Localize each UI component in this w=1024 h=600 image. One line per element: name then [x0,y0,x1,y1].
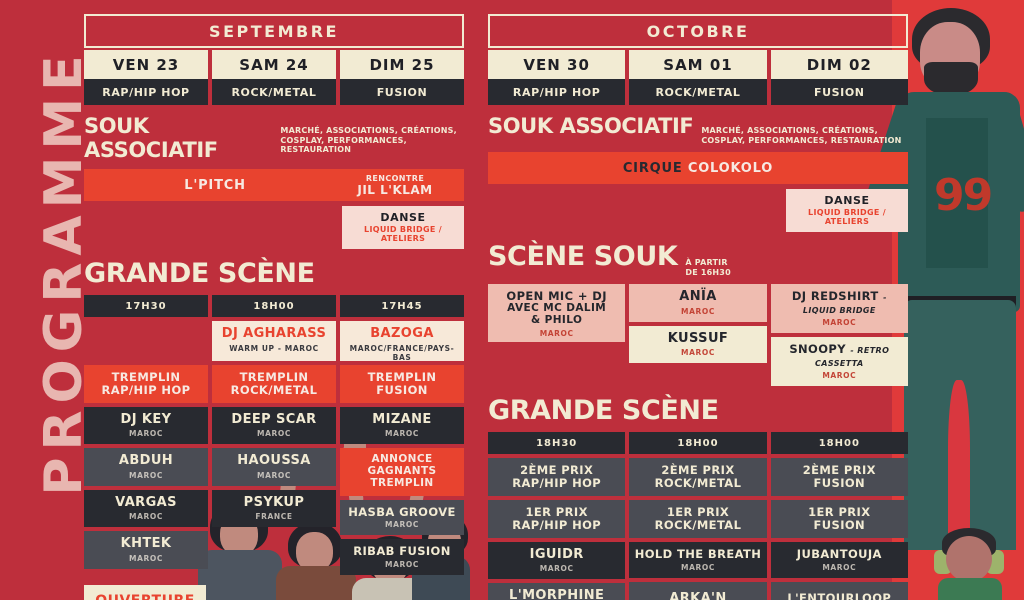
lineup-slot-prize[interactable]: 2ÈME PRIX ROCK/METAL [629,458,766,496]
slot-name: L'ENTOURLOOP [774,592,905,600]
danse-subtitle: LIQUID BRIDGE / ATELIERS [346,225,460,243]
day-genre: RAP/HIP HOP [488,79,625,105]
lineup-slot-artist[interactable]: HASBA GROOVE MAROC [340,500,464,536]
souk-slot-artist[interactable]: KUSSUF MAROC [629,326,766,364]
lineup-slot-tremplin[interactable]: TREMPLIN RAP/HIP HOP [84,365,208,403]
day-genre: RAP/HIP HOP [84,79,208,105]
slot-country: MAROC [87,512,205,521]
slot-name2: FUSION [774,477,905,490]
souk-subtitle-line2: COSPLAY, PERFORMANCES, RESTAURATION [280,136,464,155]
souk-slot-artist[interactable]: ANÏA MAROC [629,284,766,322]
slot-name: MIZANE [343,413,461,428]
lineup-slot-tremplin[interactable]: TREMPLIN ROCK/METAL [212,365,336,403]
souk-lane-3: DJ REDSHIRT - LIQUID BRIDGE MAROC SNOOPY… [771,284,908,386]
lineup-slot-prize[interactable]: 2ÈME PRIX FUSION [771,458,908,496]
lineup-slot-artist[interactable]: ARKA'N ASRAFOKOR TOGO [629,582,766,600]
day-name: SAM 24 [212,50,336,79]
slot-country: MAROC [87,554,205,563]
souk-subtitle-line1: MARCHÉ, ASSOCIATIONS, CRÉATIONS, [280,126,464,136]
section-heading-grande-scene-octobre: GRANDE SCÈNE [488,395,908,426]
lineup-slot-artist[interactable]: MIZANE MAROC [340,407,464,445]
danse-box[interactable]: DANSE LIQUID BRIDGE / ATELIERS [786,189,908,232]
danse-row-septembre: DANSE LIQUID BRIDGE / ATELIERS [84,206,464,249]
bar-side-small: RENCONTRE [336,174,454,183]
slot-country: MAROC [491,329,622,338]
lineup-lane-fusion: BAZOGA MAROC/FRANCE/PAYS-BAS TREMPLIN FU… [340,321,464,600]
souk-stage-title: SCÈNE SOUK [488,241,677,272]
slot-country: MAROC [632,348,763,357]
day-header-row-septembre: VEN 23 RAP/HIP HOP SAM 24 ROCK/METAL DIM… [84,50,464,105]
stage-title: GRANDE SCÈNE [84,258,315,289]
slot-name: RIBAB FUSION [343,545,461,558]
slot-country: MAROC [87,429,205,438]
slot-country: MAROC [343,429,461,438]
slot-name2: ROCK/METAL [632,519,763,532]
lineup-slot-artist[interactable]: JUBANTOUJA MAROC [771,542,908,578]
month-banner-septembre: SEPTEMBRE [84,14,464,48]
slot-country: MAROC [343,560,461,569]
lineup-slot-headliner[interactable]: BAZOGA MAROC/FRANCE/PAYS-BAS [340,321,464,361]
lineup-slot-artist[interactable]: ABDUH MAROC [84,448,208,486]
bar-side-name: JIL L'KLAM [336,183,454,197]
slot-name: ABDUH [87,454,205,469]
slot-country: WARM UP - MAROC [215,344,333,353]
time-header-row-octobre: 18H30 18H00 18H00 [488,432,908,454]
time-slot: 17H30 [84,295,208,317]
slot-name: 1ER PRIX [632,506,763,519]
danse-title: DANSE [346,211,460,224]
slot-name: ARKA'N [632,592,763,600]
souk-lane-1: OPEN MIC + DJ AVEC MC DALIM & PHILO MARO… [488,284,625,386]
danse-row-octobre: DANSE LIQUID BRIDGE / ATELIERS [488,189,908,232]
danse-subtitle: LIQUID BRIDGE / ATELIERS [790,208,904,226]
lineup-slot-artist[interactable]: DEEP SCAR MAROC [212,407,336,445]
souk-subtitle: MARCHÉ, ASSOCIATIONS, CRÉATIONS, COSPLAY… [701,126,901,145]
slot-name: IGUIDR [491,548,622,563]
slot-name2: RAP/HIP HOP [491,519,622,532]
lineup-slot-artist[interactable]: IGUIDR MAROC [488,542,625,580]
slot-country: MAROC [632,563,763,572]
slot-name: BAZOGA [343,327,461,342]
slot-country: MAROC [215,471,333,480]
day-genre: ROCK/METAL [629,79,766,105]
day-genre: FUSION [340,79,464,105]
slot-line: SNOOPY - RETRO CASSETTA [774,343,905,369]
souk-stage-note: À PARTIR DE 16H30 [685,258,730,277]
lineup-lane-rock-metal: DJ AGHARASS WARM UP - MAROC TREMPLIN ROC… [212,321,336,600]
weekend-column-octobre: OCTOBRE VEN 30 RAP/HIP HOP SAM 01 ROCK/M… [488,14,908,590]
lineup-grid-septembre: TREMPLIN RAP/HIP HOP DJ KEY MAROC ABDUH … [84,321,464,600]
lineup-slot-prize[interactable]: 1ER PRIX RAP/HIP HOP [488,500,625,538]
slot-country: MAROC [343,520,461,529]
time-slot: 18H30 [488,432,625,454]
slot-name: HASBA GROOVE [343,506,461,519]
ouverture-line1: OUVERTURE [90,593,200,600]
lineup-slot-artist[interactable]: DJ KEY MAROC [84,407,208,445]
ouverture-des-portes-box: OUVERTURE DES PORTES À 16H00 [84,585,206,600]
section-heading-scene-souk: SCÈNE SOUK À PARTIR DE 16H30 [488,241,908,277]
slot-name: JUBANTOUJA [774,548,905,561]
lineup-slot-artist[interactable]: PSYKUP FRANCE [212,490,336,528]
day-column-sam01[interactable]: SAM 01 ROCK/METAL [629,50,766,105]
lineup-slot-artist[interactable]: L'ENTOURLOOP FRANCE [771,582,908,600]
lineup-slot-artist[interactable]: L'MORPHINE MAROC [488,583,625,600]
souk-title: SOUK ASSOCIATIF [84,114,272,162]
day-column-ven23[interactable]: VEN 23 RAP/HIP HOP [84,50,208,105]
section-heading-souk-associatif-octobre: SOUK ASSOCIATIF MARCHÉ, ASSOCIATIONS, CR… [488,114,908,145]
lineup-lane-rap-hip-hop: TREMPLIN RAP/HIP HOP DJ KEY MAROC ABDUH … [84,321,208,600]
slot-country: MAROC/FRANCE/PAYS-BAS [343,344,461,362]
slot-country: MAROC [774,318,905,327]
lineup-lane-rock-metal-oct: 2ÈME PRIX ROCK/METAL 1ER PRIX ROCK/METAL… [629,458,766,600]
lineup-lane-rap-hip-hop-oct: 2ÈME PRIX RAP/HIP HOP 1ER PRIX RAP/HIP H… [488,458,625,600]
slot-country: MAROC [491,564,622,573]
time-slot: 17H45 [340,295,464,317]
souk-subtitle-line2: COSPLAY, PERFORMANCES, RESTAURATION [701,136,901,146]
slot-name: KHTEK [87,537,205,552]
slot-country: MAROC [774,371,905,380]
day-column-sam24[interactable]: SAM 24 ROCK/METAL [212,50,336,105]
slot-name3: & PHILO [491,315,622,327]
slot-name: DJ KEY [87,413,205,428]
slot-name: HAOUSSA [215,454,333,469]
slot-name: SNOOPY [789,342,846,356]
souk-title: SOUK ASSOCIATIF [488,114,693,138]
slot-country: MAROC [215,429,333,438]
slot-country: FRANCE [215,512,333,521]
lineup-slot-prize[interactable]: 1ER PRIX ROCK/METAL [629,500,766,538]
slot-name: KUSSUF [632,332,763,347]
bar-lpitch-rencontre[interactable]: L'PITCH RENCONTRE JIL L'KLAM [84,169,464,201]
slot-name2: RAP/HIP HOP [87,384,205,397]
slot-name: TREMPLIN [87,371,205,384]
slot-name2: ROCK/METAL [632,477,763,490]
section-heading-souk-associatif-septembre: SOUK ASSOCIATIF MARCHÉ, ASSOCIATIONS, CR… [84,114,464,162]
bar-main-block: CIRQUE COLOKOLO [498,161,898,176]
lineup-slot-tremplin[interactable]: TREMPLIN FUSION [340,365,464,403]
slot-name2: FUSION [774,519,905,532]
lineup-slot-artist[interactable]: HOLD THE BREATH MAROC [629,542,766,578]
souk-slot-artist[interactable]: SNOOPY - RETRO CASSETTA MAROC [771,337,908,386]
slot-name2: ROCK/METAL [215,384,333,397]
slot-country: MAROC [87,471,205,480]
slot-name: HOLD THE BREATH [632,548,763,561]
day-column-ven30[interactable]: VEN 30 RAP/HIP HOP [488,50,625,105]
time-slot: 18H00 [771,432,908,454]
slot-name: 1ER PRIX [774,506,905,519]
souk-subtitle: MARCHÉ, ASSOCIATIONS, CRÉATIONS, COSPLAY… [280,126,464,155]
slot-name: DJ AGHARASS [215,327,333,342]
day-name: VEN 23 [84,50,208,79]
slot-country: MAROC [632,307,763,316]
lineup-slot-artist[interactable]: HAOUSSA MAROC [212,448,336,486]
danse-box[interactable]: DANSE LIQUID BRIDGE / ATELIERS [342,206,464,249]
lineup-slot-warmup[interactable]: DJ AGHARASS WARM UP - MAROC [212,321,336,361]
lineup-slot-empty [84,321,208,361]
slot-name: PSYKUP [215,496,333,511]
day-name: SAM 01 [629,50,766,79]
slot-name: VARGAS [87,496,205,511]
day-name: VEN 30 [488,50,625,79]
time-header-row-septembre: 17H30 18H00 17H45 [84,295,464,317]
time-slot: 18H00 [629,432,766,454]
souk-stage-note-line1: À PARTIR [685,258,730,268]
day-header-row-octobre: VEN 30 RAP/HIP HOP SAM 01 ROCK/METAL DIM… [488,50,908,105]
slot-country: MAROC [774,563,905,572]
time-slot: 18H00 [212,295,336,317]
day-name: DIM 02 [771,50,908,79]
slot-name: DEEP SCAR [215,413,333,428]
lineup-slot-prize[interactable]: 2ÈME PRIX RAP/HIP HOP [488,458,625,496]
souk-subtitle-line1: MARCHÉ, ASSOCIATIONS, CRÉATIONS, [701,126,901,136]
weekend-column-septembre: SEPTEMBRE VEN 23 RAP/HIP HOP SAM 24 ROCK… [84,14,464,590]
lineup-slot-annonce[interactable]: ANNONCE GAGNANTS TREMPLIN [340,448,464,495]
bar-word-colokolo: COLOKOLO [688,161,773,176]
lineup-slot-artist[interactable]: KHTEK MAROC [84,531,208,569]
bar-side-block: RENCONTRE JIL L'KLAM [336,174,454,197]
slot-line: DJ REDSHIRT - LIQUID BRIDGE [774,290,905,316]
bar-word-cirque: CIRQUE [623,161,683,176]
day-column-dim25[interactable]: DIM 25 FUSION [340,50,464,105]
lineup-slot-artist[interactable]: RIBAB FUSION MAROC [340,539,464,575]
slot-name: DJ REDSHIRT [792,289,879,303]
day-genre: FUSION [771,79,908,105]
lineup-slot-prize[interactable]: 1ER PRIX FUSION [771,500,908,538]
bar-cirque-colokolo[interactable]: CIRQUE COLOKOLO [488,152,908,184]
danse-title: DANSE [790,194,904,207]
lineup-lane-fusion-oct: 2ÈME PRIX FUSION 1ER PRIX FUSION JUBANTO… [771,458,908,600]
slot-name: TREMPLIN [215,371,333,384]
souk-slot-open-mic[interactable]: OPEN MIC + DJ AVEC MC DALIM & PHILO MARO… [488,284,625,342]
slot-name2: RAP/HIP HOP [491,477,622,490]
slot-name: ANÏA [632,290,763,305]
lineup-grid-octobre: 2ÈME PRIX RAP/HIP HOP 1ER PRIX RAP/HIP H… [488,458,908,600]
souk-slot-artist[interactable]: DJ REDSHIRT - LIQUID BRIDGE MAROC [771,284,908,333]
section-heading-grande-scene-septembre: GRANDE SCÈNE [84,258,464,289]
day-genre: ROCK/METAL [212,79,336,105]
day-column-dim02[interactable]: DIM 02 FUSION [771,50,908,105]
slot-name: TREMPLIN FUSION [343,371,461,397]
souk-stage-grid: OPEN MIC + DJ AVEC MC DALIM & PHILO MARO… [488,284,908,386]
slot-name: 1ER PRIX [491,506,622,519]
month-banner-octobre: OCTOBRE [488,14,908,48]
bar-main-label: L'PITCH [94,178,336,193]
lineup-slot-artist[interactable]: VARGAS MAROC [84,490,208,528]
day-name: DIM 25 [340,50,464,79]
slot-name2: GAGNANTS TREMPLIN [343,466,461,490]
souk-lane-2: ANÏA MAROC KUSSUF MAROC [629,284,766,386]
souk-stage-note-line2: DE 16H30 [685,268,730,278]
stage-title: GRANDE SCÈNE [488,395,719,426]
slot-name: L'MORPHINE [491,589,622,600]
